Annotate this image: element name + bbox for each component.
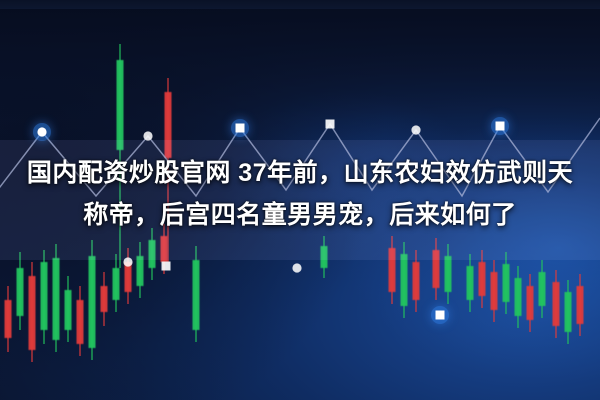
top-edge-bar (0, 0, 600, 9)
screenshot-canvas: 国内配资炒股官网 37年前，山东农妇效仿武则天称帝，后宫四名童男男宠，后来如何了 (0, 0, 600, 400)
page-title: 国内配资炒股官网 37年前，山东农妇效仿武则天称帝，后宫四名童男男宠，后来如何了 (0, 152, 600, 236)
